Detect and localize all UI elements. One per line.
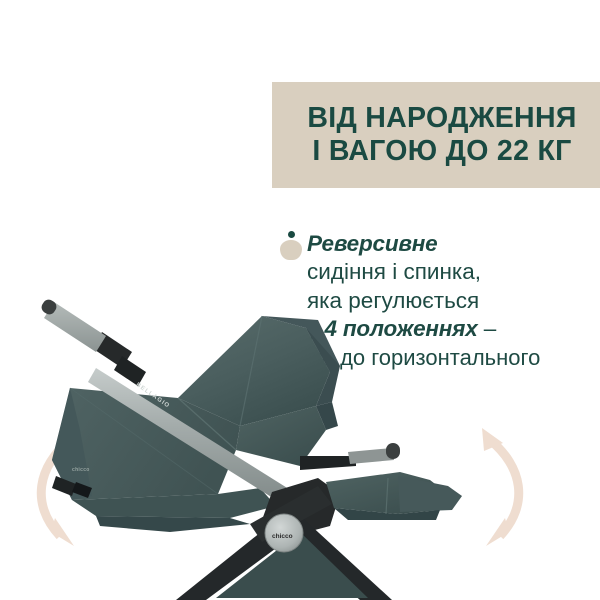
- headline-line-1: ВІД НАРОДЖЕННЯ: [307, 102, 576, 135]
- feature-line-1: Реверсивне: [307, 230, 597, 258]
- curved-double-arrow-right-icon: [462, 418, 552, 558]
- fabric-brand-tag: chicco: [72, 467, 90, 473]
- feature-line-4-suffix: –: [478, 316, 497, 341]
- headline-banner: ВІД НАРОДЖЕННЯ І ВАГОЮ ДО 22 КГ: [272, 82, 600, 188]
- stroller-graphic: [0, 280, 470, 600]
- marker-body-icon: [280, 240, 302, 260]
- marker-head-icon: [288, 231, 295, 238]
- feature-emphasis-reversible: Реверсивне: [307, 231, 437, 256]
- hub-brand-logo: chicco: [272, 533, 293, 540]
- stroller-illustration: [0, 280, 470, 600]
- headline-line-2: І ВАГОЮ ДО 22 КГ: [312, 135, 571, 168]
- person-marker-icon: [279, 231, 305, 261]
- poster-canvas: ВІД НАРОДЖЕННЯ І ВАГОЮ ДО 22 КГ Реверсив…: [0, 0, 600, 600]
